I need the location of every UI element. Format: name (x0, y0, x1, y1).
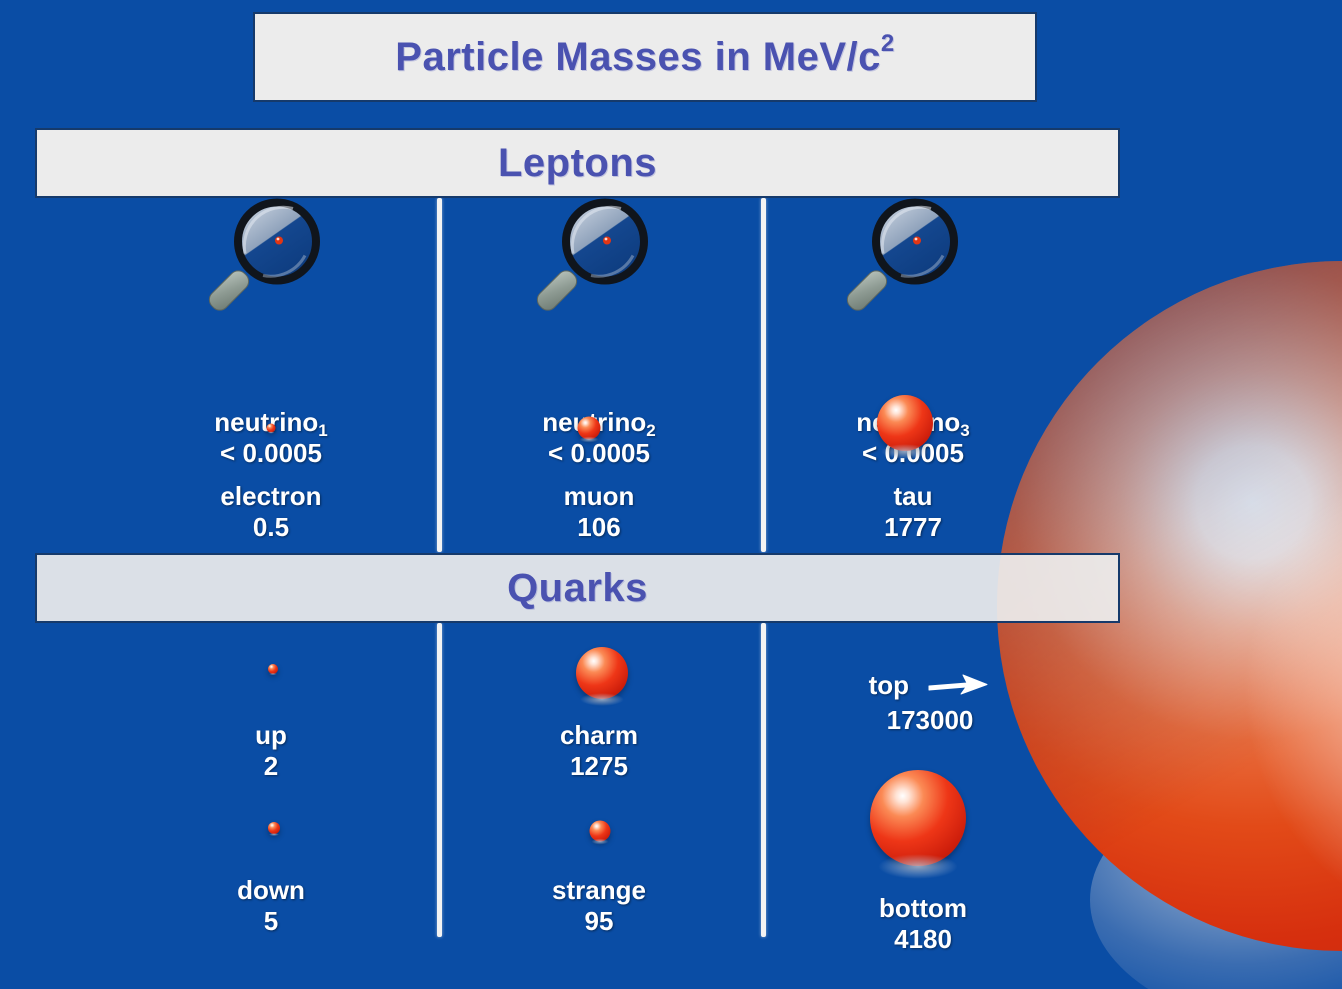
particle-mass-electron: 0.5 (140, 512, 402, 543)
particle-cell-top: top 173000 (815, 668, 1045, 736)
particle-cell-bottom: bottom 4180 (792, 740, 1054, 955)
quarks-heading-text: Quarks (507, 566, 648, 611)
particle-cell-down: down 5 (140, 800, 402, 937)
red-sphere-icon (576, 647, 628, 699)
red-sphere-icon (267, 424, 276, 433)
particle-mass-muon: 106 (468, 512, 730, 543)
arrow-right-icon (927, 672, 991, 703)
magnifier-icon (533, 194, 665, 331)
red-sphere-icon (870, 770, 966, 866)
particle-cell-up: up 2 (140, 645, 402, 782)
particle-label-tau: tau (782, 482, 1044, 512)
particle-label-charm: charm (468, 721, 730, 751)
particle-cell-muon: muon 106 (468, 400, 730, 543)
red-sphere-icon (268, 664, 278, 674)
red-sphere-icon (877, 395, 933, 451)
particle-mass-chart: Particle Masses in MeV/c2 Leptons (0, 0, 1342, 989)
particle-cell-electron: electron 0.5 (140, 400, 402, 543)
page-title-text: Particle Masses in MeV/c (395, 35, 881, 80)
magnifier-icon (843, 194, 975, 331)
column-divider (437, 623, 442, 937)
red-sphere-icon (268, 822, 280, 834)
leptons-heading-text: Leptons (498, 141, 657, 186)
particle-mass-bottom: 4180 (792, 924, 1054, 955)
particle-cell-strange: strange 95 (468, 800, 730, 937)
particle-cell-tau: tau 1777 (782, 400, 1044, 543)
particle-mass-strange: 95 (468, 906, 730, 937)
magnifier-icon (205, 194, 337, 331)
red-sphere-icon (590, 821, 611, 842)
column-divider (761, 623, 766, 937)
page-title-exponent: 2 (881, 30, 895, 58)
leptons-section-heading: Leptons (35, 128, 1120, 198)
particle-label-top: top (869, 671, 909, 701)
page-title: Particle Masses in MeV/c2 (253, 12, 1037, 102)
particle-label-strange: strange (468, 876, 730, 906)
particle-label-bottom: bottom (792, 894, 1054, 924)
particle-cell-charm: charm 1275 (468, 645, 730, 782)
particle-label-electron: electron (140, 482, 402, 512)
particle-label-up: up (140, 721, 402, 751)
particle-mass-charm: 1275 (468, 751, 730, 782)
particle-mass-top: 173000 (815, 705, 1045, 736)
particle-mass-up: 2 (140, 751, 402, 782)
column-divider (761, 198, 766, 552)
red-sphere-icon (578, 417, 601, 440)
column-divider (437, 198, 442, 552)
particle-label-muon: muon (468, 482, 730, 512)
quarks-section-heading: Quarks (35, 553, 1120, 623)
particle-label-down: down (140, 876, 402, 906)
particle-mass-down: 5 (140, 906, 402, 937)
